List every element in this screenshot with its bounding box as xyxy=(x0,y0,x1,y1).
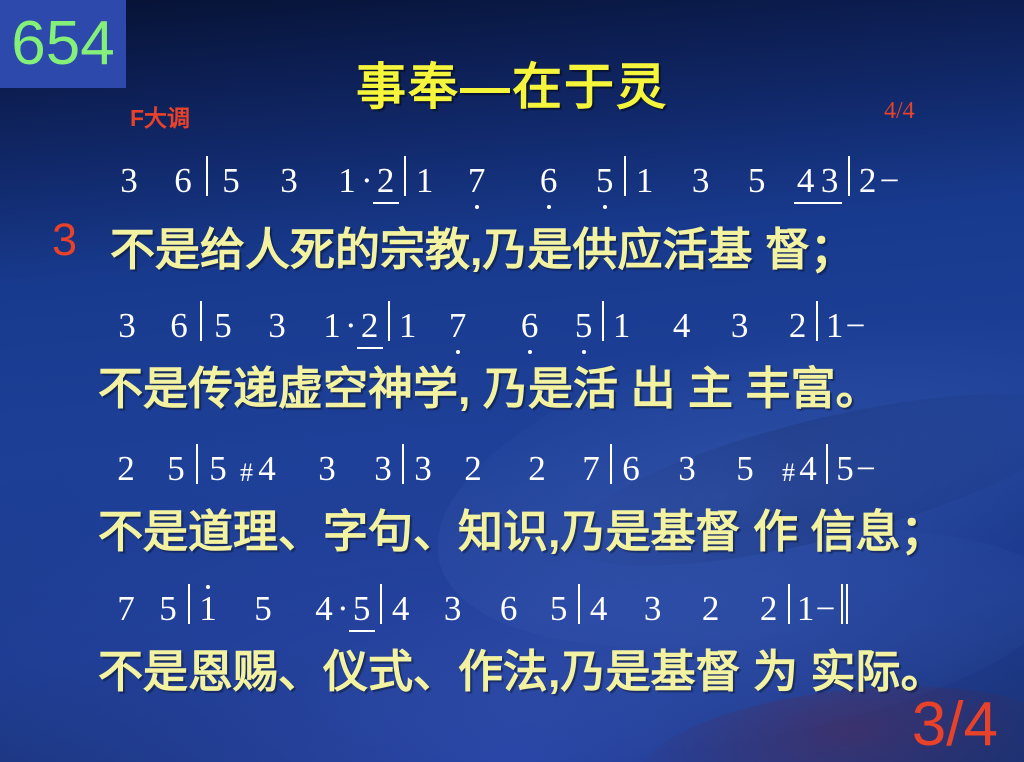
note-dash: − xyxy=(880,163,900,198)
note: 3 xyxy=(314,451,340,486)
note: 5 xyxy=(546,591,572,626)
note: 3 xyxy=(688,163,714,198)
notation-line-4: 7 5 1 5 4 · 5 4 3 6 5 4 3 2 2 xyxy=(0,580,1024,626)
note: 4 xyxy=(796,451,820,486)
lyric-line-4: 不是恩赐、仪式、作法,乃是基督 为 实际。 xyxy=(0,635,1024,700)
note: 3 xyxy=(818,163,842,198)
barline xyxy=(196,444,198,484)
note: 5 xyxy=(154,591,182,626)
note: 4 xyxy=(794,163,818,198)
barline xyxy=(388,301,390,341)
note: 2 xyxy=(786,308,810,343)
octave-dot-low xyxy=(603,205,607,209)
barline xyxy=(578,584,580,624)
note: 5 xyxy=(204,451,232,486)
note: 5 xyxy=(208,308,238,343)
note: 4 xyxy=(312,591,336,626)
note-low-octave: 7 xyxy=(464,163,490,198)
augmentation-dot: · xyxy=(360,163,374,198)
page-title: 事奉—在于灵 xyxy=(0,47,1024,119)
note: 7 xyxy=(112,591,140,626)
final-barline xyxy=(841,584,848,624)
barline xyxy=(188,584,190,624)
note: 5 xyxy=(732,451,758,486)
barline xyxy=(602,301,604,341)
note: 3 xyxy=(640,591,666,626)
note-low-octave: 5 xyxy=(572,308,596,343)
note-low-octave: 7 xyxy=(446,308,470,343)
lyric-line-2: 不是传递虚空神学, 乃是活 出 主 丰富。 xyxy=(0,352,1024,417)
note: 5 xyxy=(250,591,276,626)
barline xyxy=(404,156,406,196)
note: 2 xyxy=(358,308,382,343)
lyric-text: 不是道理、字句、知识,乃是基督 作 信息； xyxy=(0,495,946,560)
note-low-octave: 6 xyxy=(518,308,542,343)
barline xyxy=(624,156,626,196)
note-dash: − xyxy=(816,591,836,626)
augmentation-dot: · xyxy=(336,591,350,626)
barline xyxy=(826,444,828,484)
octave-dot-low xyxy=(547,205,551,209)
note: 4 xyxy=(388,591,414,626)
barline xyxy=(816,301,818,341)
note: 3 xyxy=(440,591,466,626)
note: 5 xyxy=(834,451,856,486)
note: 3 xyxy=(674,451,700,486)
note: 3 xyxy=(262,308,292,343)
notation-line-2: 3 6 5 3 1 · 2 1 7 6 5 1 4 3 2 xyxy=(0,297,1024,343)
note: 5 xyxy=(350,591,374,626)
lyric-text: 不是给人死的宗教,乃是供应活基 督； xyxy=(0,213,855,278)
sharp-accidental: # xyxy=(240,460,254,486)
note: 3 xyxy=(112,163,146,198)
time-signature: 4/4 xyxy=(884,98,915,125)
note: 2 xyxy=(856,163,880,198)
note: 6 xyxy=(618,451,644,486)
barline xyxy=(380,584,382,624)
note: 1 xyxy=(412,163,438,198)
note: 5 xyxy=(744,163,770,198)
note: 2 xyxy=(756,591,782,626)
note: 3 xyxy=(112,308,142,343)
note: 3 xyxy=(370,451,396,486)
verse-number: 3 xyxy=(52,214,77,266)
lyric-text: 不是传递虚空神学, 乃是活 出 主 丰富。 xyxy=(0,352,881,417)
barline xyxy=(788,584,790,624)
octave-dot-high xyxy=(206,585,210,589)
note: 6 xyxy=(166,163,200,198)
note: 7 xyxy=(578,451,604,486)
octave-dot-low xyxy=(475,205,479,209)
note-dash: − xyxy=(846,308,866,343)
note: 2 xyxy=(112,451,140,486)
note: 6 xyxy=(164,308,194,343)
note: 5 xyxy=(214,163,248,198)
barline xyxy=(206,156,208,196)
note: 1 xyxy=(334,163,360,198)
lyric-line-1: 3 不是给人死的宗教,乃是供应活基 督； xyxy=(0,213,1024,278)
barline xyxy=(848,156,850,196)
note-low-octave: 6 xyxy=(536,163,562,198)
note: 5 xyxy=(162,451,190,486)
note: 4 xyxy=(254,451,280,486)
note: 3 xyxy=(728,308,752,343)
note: 1 xyxy=(824,308,846,343)
barline xyxy=(402,444,404,484)
hymn-slide: 654 F大调 事奉—在于灵 4/4 3 6 5 3 1 · 2 1 7 6 5 xyxy=(0,0,1024,762)
barline xyxy=(200,301,202,341)
note: 1 xyxy=(396,308,420,343)
note: 2 xyxy=(460,451,486,486)
lyric-line-3: 不是道理、字句、知识,乃是基督 作 信息； xyxy=(0,495,1024,560)
notation-line-1: 3 6 5 3 1 · 2 1 7 6 5 1 3 5 4 xyxy=(0,152,1024,198)
note: 1 xyxy=(610,308,634,343)
note: 3 xyxy=(272,163,306,198)
note: 4 xyxy=(670,308,694,343)
augmentation-dot: · xyxy=(344,308,358,343)
note-low-octave: 5 xyxy=(592,163,618,198)
note: 6 xyxy=(496,591,522,626)
note: 1 xyxy=(320,308,344,343)
note: 1 xyxy=(632,163,658,198)
note: 2 xyxy=(524,451,550,486)
note: 4 xyxy=(586,591,612,626)
page-indicator: 3/4 xyxy=(912,689,998,760)
barline xyxy=(610,444,612,484)
note-dash: − xyxy=(856,451,876,486)
note: 3 xyxy=(410,451,436,486)
notation-line-3: 2 5 5 # 4 3 3 3 2 2 7 6 3 5 xyxy=(0,440,1024,486)
sharp-accidental: # xyxy=(782,460,796,486)
note: 1 xyxy=(796,591,816,626)
note: 2 xyxy=(374,163,398,198)
note: 2 xyxy=(698,591,724,626)
note-high-octave: 1 xyxy=(196,591,220,626)
lyric-text: 不是恩赐、仪式、作法,乃是基督 为 实际。 xyxy=(0,635,946,700)
